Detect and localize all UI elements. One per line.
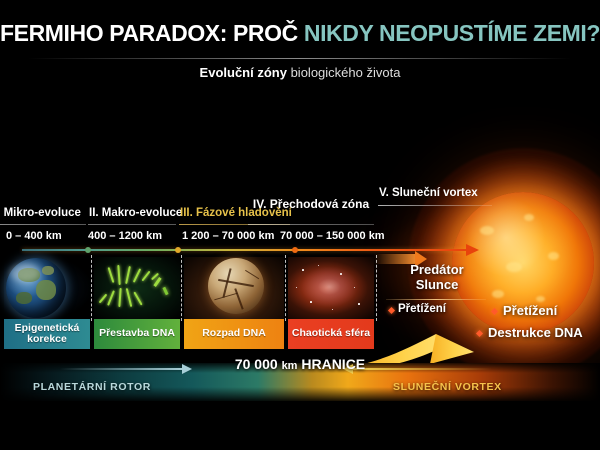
predator-label: Predátor Slunce <box>382 263 492 292</box>
zone-header-2: II. Makro-evoluce <box>89 208 182 220</box>
axis-arrow-icon <box>466 244 479 256</box>
zone-header-5: V. Sluneční vortex <box>379 188 478 200</box>
zone-separator-2 <box>181 255 182 321</box>
zone-distance-3: 1 200 – 70 000 km <box>182 230 274 242</box>
zone-label-2: Přestavba DNA <box>94 319 180 349</box>
axis-node-2 <box>175 247 181 253</box>
zone-separator-3 <box>285 255 286 321</box>
zone-label-1: Epigenetická korekce <box>4 319 90 349</box>
predator-overload-label: Přetížení <box>398 303 446 315</box>
zone-underline-4 <box>248 224 374 225</box>
zone-header-4: IV. Přechodová zóna <box>249 198 373 210</box>
zone-thumb-2 <box>94 257 180 319</box>
earth-icon <box>6 258 66 318</box>
zone-underline-5 <box>378 205 492 206</box>
page-title-primary: FERMIHO PARADOX: PROČ <box>0 20 298 46</box>
solar-vortex-label: SLUNEČNÍ VORTEX <box>393 381 502 393</box>
predator-divider <box>386 299 486 300</box>
zone-underline-1 <box>0 224 86 225</box>
page-subtitle: Evoluční zóny biologického života <box>0 66 600 79</box>
sun-destruction-label: Destrukce DNA <box>488 325 583 340</box>
boundary-label: 70 000 km HRANICE <box>0 356 600 372</box>
zone-separator-1 <box>91 255 92 321</box>
page-title: FERMIHO PARADOX: PROČ NIKDY NEOPUSTÍME Z… <box>0 22 600 45</box>
zone-distance-2: 400 – 1200 km <box>88 230 162 242</box>
planetary-rotor-label: PLANETÁRNÍ ROTOR <box>33 381 151 393</box>
zone-thumb-4 <box>288 257 374 319</box>
predator-line-1: Predátor <box>410 262 463 277</box>
zone-distance-1: 0 – 400 km <box>6 230 62 242</box>
infographic-canvas: FERMIHO PARADOX: PROČ NIKDY NEOPUSTÍME Z… <box>0 0 600 450</box>
boundary-value: 70 000 <box>235 356 278 372</box>
page-title-accent: NIKDY NEOPUSTÍME ZEMI? <box>304 20 600 46</box>
zone-label-3: Rozpad DNA <box>184 319 284 349</box>
axis-node-3 <box>292 247 298 253</box>
subtitle-normal: biologického života <box>291 65 401 80</box>
boundary-word: HRANICE <box>301 356 365 372</box>
zone-separator-4 <box>376 255 377 321</box>
dead-planet-icon <box>208 258 264 314</box>
footer-spacer <box>0 401 600 450</box>
sun-overload-label: Přetížení <box>503 303 557 318</box>
axis-node-1 <box>85 247 91 253</box>
zone-distance-4: 70 000 – 150 000 km <box>280 230 385 242</box>
subtitle-bold: Evoluční zóny <box>200 65 287 80</box>
zone-underline-2 <box>88 224 176 225</box>
title-divider <box>28 58 572 59</box>
predator-line-2: Slunce <box>416 277 459 292</box>
boundary-unit: km <box>282 360 298 372</box>
zone-header-1: I. Mikro-evoluce <box>0 208 81 220</box>
